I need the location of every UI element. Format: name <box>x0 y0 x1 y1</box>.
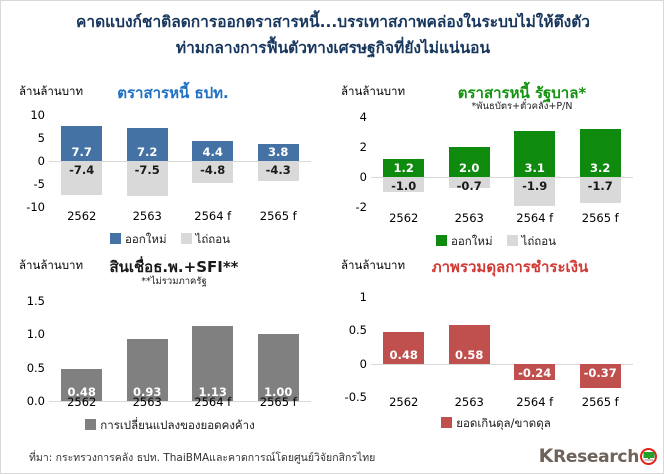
plot-area: 420-21.2-1.02.0-0.73.1-1.93.2-1.72562256… <box>371 117 633 207</box>
x-axis-tick: 2565 f <box>568 211 634 225</box>
chart-subtitle: **ไม่รวมภาครัฐ <box>49 274 299 289</box>
plot-area: 10.50-0.50.480.58-0.24-0.37256225632564 … <box>371 297 633 397</box>
sprout-in-circle-icon <box>640 448 657 465</box>
x-axis-tick: 2562 <box>49 209 115 223</box>
bar-group[interactable]: 0.58 <box>449 297 490 397</box>
page-title: คาดแบงก์ชาติลดการออกตราสารหนี้...บรรเทาส… <box>1 9 664 61</box>
bar-group[interactable]: 1.2-1.0 <box>383 117 424 207</box>
bar-value-label: -0.37 <box>580 368 621 380</box>
chart-legend: ยอดเกินดุล/ขาดดุล <box>365 415 627 433</box>
chart-legend: ออกใหม่ไถ่ถอน <box>365 233 627 251</box>
x-axis-tick: 2564 f <box>180 395 246 409</box>
x-axis-tick: 2563 <box>115 395 181 409</box>
chart-unit-label: ล้านล้านบาท <box>341 83 405 101</box>
x-axis-tick: 2563 <box>115 209 181 223</box>
legend-label: ยอดเกินดุล/ขาดดุล <box>456 416 551 430</box>
legend-item[interactable]: ออกใหม่ <box>436 233 493 251</box>
legend-item[interactable]: ไถ่ถอน <box>181 231 230 249</box>
bar-value-label: 3.1 <box>514 163 555 175</box>
legend-swatch <box>507 235 518 246</box>
chart-panel-government-debt-securities: ล้านล้านบาท ตราสารหนี้ รัฐบาล* *พันธบัตร… <box>331 83 657 253</box>
bar-value-label: 2.0 <box>449 163 490 175</box>
chart-title: ตราสารหนี้ ธปท. <box>43 81 303 105</box>
legend-swatch <box>110 233 121 244</box>
bars-container: 1.2-1.02.0-0.73.1-1.93.2-1.7 <box>371 117 633 207</box>
bar-value-label: 7.2 <box>127 147 168 159</box>
y-axis-tick: 1 <box>360 290 367 304</box>
bar-group[interactable]: 7.7-7.4 <box>61 115 102 207</box>
bar-value-label: 3.8 <box>258 147 299 159</box>
bar-group[interactable]: 3.8-4.3 <box>258 115 299 207</box>
legend-label: ไถ่ถอน <box>196 232 230 246</box>
plot-area: 1.51.00.50.00.480.931.131.00256225632564… <box>49 301 311 401</box>
legend-swatch <box>181 233 192 244</box>
x-axis-tick: 2564 f <box>180 209 246 223</box>
legend-item[interactable]: ออกใหม่ <box>110 231 167 249</box>
headline-line-1: คาดแบงก์ชาติลดการออกตราสารหนี้...บรรเทาส… <box>76 13 590 31</box>
legend-item[interactable]: ไถ่ถอน <box>507 233 556 251</box>
x-axis-tick: 2565 f <box>246 395 312 409</box>
logo-research-text: Research <box>553 447 639 467</box>
bar-group[interactable]: 3.1-1.9 <box>514 117 555 207</box>
bars-container: 0.480.931.131.00 <box>49 301 311 401</box>
x-axis-tick: 2562 <box>371 211 437 225</box>
bar-value-label: -1.9 <box>514 181 555 193</box>
footer: ที่มา: กระทรวงการคลัง ธปท. ThaiBMAและคาด… <box>1 445 664 469</box>
bar-value-label: 3.2 <box>580 163 621 175</box>
y-axis: 1.51.00.50.0 <box>11 301 49 401</box>
bar-group[interactable]: 1.00 <box>258 301 299 401</box>
x-axis-tick: 2562 <box>49 395 115 409</box>
y-axis: 420-2 <box>333 117 371 207</box>
headline-line-2: ท่ามกลางการฟื้นตัวทางเศรษฐกิจที่ยังไม่แน… <box>1 35 664 61</box>
legend-swatch <box>441 417 452 428</box>
bar-group[interactable]: 3.2-1.7 <box>580 117 621 207</box>
bar-value-label: 0.58 <box>449 350 490 362</box>
x-axis-tick: 2565 f <box>568 395 634 409</box>
x-axis-tick: 2564 f <box>502 211 568 225</box>
kresearch-logo: KResearch <box>539 445 657 467</box>
bar-group[interactable]: 2.0-0.7 <box>449 117 490 207</box>
bar-group[interactable]: 7.2-7.5 <box>127 115 168 207</box>
bar-group[interactable]: 4.4-4.8 <box>192 115 233 207</box>
bar-value-label: -1.7 <box>580 181 621 193</box>
bar-value-label: -0.24 <box>514 368 555 380</box>
legend-swatch <box>436 235 447 246</box>
chart-legend: การเปลี่ยนแปลงของยอดคงค้าง <box>39 417 301 435</box>
bar-group[interactable]: 0.48 <box>383 297 424 397</box>
legend-item[interactable]: การเปลี่ยนแปลงของยอดคงค้าง <box>85 417 254 435</box>
y-axis-tick: 0.0 <box>27 394 45 408</box>
y-axis: 10.50-0.5 <box>333 297 371 397</box>
legend-label: ออกใหม่ <box>125 232 167 246</box>
chart-subtitle: *พันธบัตร+ตั๋วคลัง+P/N <box>397 99 647 114</box>
bar-value-label: 1.2 <box>383 163 424 175</box>
bar-value-label: -4.8 <box>192 165 233 177</box>
y-axis-tick: 1.5 <box>27 294 45 308</box>
chart-panel-bot-debt-securities: ล้านล้านบาท ตราสารหนี้ ธปท. 1050-5-107.7… <box>9 83 331 253</box>
y-axis-tick: -2 <box>356 200 367 214</box>
x-axis-tick: 2565 f <box>246 209 312 223</box>
y-axis-tick: 4 <box>360 110 367 124</box>
bar-value-label: 4.4 <box>192 147 233 159</box>
y-axis-tick: -5 <box>34 177 45 191</box>
bar-value-label: -0.7 <box>449 181 490 193</box>
bar-group[interactable]: 0.48 <box>61 301 102 401</box>
x-axis-tick: 2562 <box>371 395 437 409</box>
bar-group[interactable]: 0.93 <box>127 301 168 401</box>
bar-value-label: 7.7 <box>61 147 102 159</box>
bar-value-label: -7.4 <box>61 165 102 177</box>
bar-group[interactable]: -0.37 <box>580 297 621 397</box>
y-axis-tick: 5 <box>38 131 45 145</box>
y-axis-tick: 0 <box>38 154 45 168</box>
chart-panel-balance-of-payments: ล้านล้านบาท ภาพรวมดุลการชำระเงิน 10.50-0… <box>331 257 657 437</box>
y-axis-tick: 0.5 <box>27 361 45 375</box>
bar-group[interactable]: -0.24 <box>514 297 555 397</box>
infographic-page: คาดแบงก์ชาติลดการออกตราสารหนี้...บรรเทาส… <box>0 0 664 474</box>
y-axis-tick: -0.5 <box>345 390 367 404</box>
bar-value-label: -1.0 <box>383 181 424 193</box>
legend-item[interactable]: ยอดเกินดุล/ขาดดุล <box>441 415 551 433</box>
x-axis-tick: 2563 <box>437 211 503 225</box>
chart-title: ภาพรวมดุลการชำระเงิน <box>385 255 635 279</box>
x-axis-tick: 2563 <box>437 395 503 409</box>
y-axis-tick: -10 <box>26 200 45 214</box>
bar-value-label: 0.48 <box>383 350 424 362</box>
legend-label: การเปลี่ยนแปลงของยอดคงค้าง <box>100 418 254 432</box>
bar-value-label: -4.3 <box>258 165 299 177</box>
legend-label: ออกใหม่ <box>451 234 493 248</box>
plot-area: 1050-5-107.7-7.47.2-7.54.4-4.83.8-4.3256… <box>49 115 311 207</box>
y-axis-tick: 0 <box>360 170 367 184</box>
y-axis-tick: 10 <box>30 108 45 122</box>
legend-swatch <box>85 419 96 430</box>
logo-k-letter: K <box>539 445 553 467</box>
y-axis-tick: 0 <box>360 357 367 371</box>
source-note: ที่มา: กระทรวงการคลัง ธปท. ThaiBMAและคาด… <box>29 449 375 466</box>
y-axis: 1050-5-10 <box>11 115 49 207</box>
y-axis-tick: 0.5 <box>349 323 367 337</box>
y-axis-tick: 1.0 <box>27 327 45 341</box>
bar-value-label: -7.5 <box>127 165 168 177</box>
bar-group[interactable]: 1.13 <box>192 301 233 401</box>
legend-label: ไถ่ถอน <box>522 234 556 248</box>
chart-panel-bank-sfi-credit: ล้านล้านบาท สินเชื่อธ.พ.+SFI** **ไม่รวมภ… <box>9 257 331 437</box>
y-axis-tick: 2 <box>360 140 367 154</box>
bars-container: 0.480.58-0.24-0.37 <box>371 297 633 397</box>
chart-legend: ออกใหม่ไถ่ถอน <box>39 231 301 249</box>
x-axis-tick: 2564 f <box>502 395 568 409</box>
bars-container: 7.7-7.47.2-7.54.4-4.83.8-4.3 <box>49 115 311 207</box>
